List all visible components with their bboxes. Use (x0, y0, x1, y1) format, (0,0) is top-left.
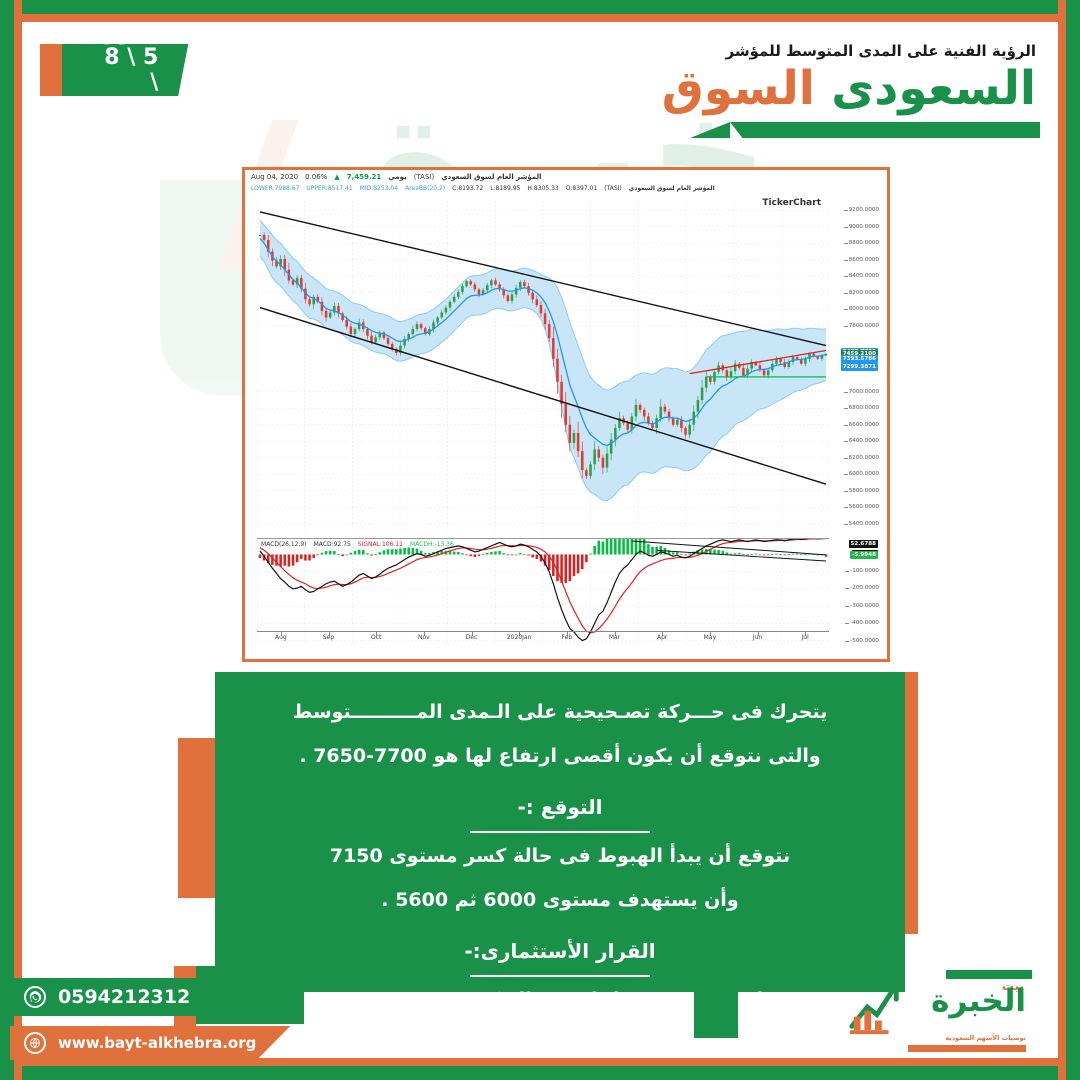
analysis-line-2: والتى نتوقع أن يكون أقصى ارتفاع لها هو 7… (245, 742, 875, 771)
forecast-heading-underline (470, 831, 650, 833)
price-axis-label: 5600.0000 (849, 504, 879, 510)
headline-title-part1: السوق (662, 61, 815, 116)
price-chart-svg (257, 202, 829, 532)
decision-heading: القرار الأستثمارى:- (464, 939, 655, 968)
logo-top-bar (946, 970, 1032, 979)
contact-website-url: www.bayt-alkhebra.org (58, 1034, 256, 1052)
border-top-green (0, 0, 1080, 14)
macd-chart-svg (257, 539, 829, 644)
bollinger-upper: UPPER:8517.41 (306, 185, 352, 192)
time-axis-label: Jul (802, 634, 809, 641)
macd-axis-label: -100.0000 (850, 568, 879, 574)
chart-card: المؤشر العام لسوق السعودي (TASI) يومي 7,… (242, 167, 890, 662)
contact-phone-number: 0594212312 (58, 986, 190, 1008)
price-axis-label: 6200.0000 (849, 455, 879, 461)
time-axis-label: Nov (418, 634, 430, 641)
macd-axis-label: -500.0000 (850, 638, 879, 644)
forecast-heading-wrap: التوقع :- (245, 787, 875, 833)
border-left-green (0, 0, 14, 1080)
time-axis-label: Sep (323, 634, 334, 641)
forecast-heading: التوقع :- (517, 795, 602, 824)
price-axis-label: 8600.0000 (849, 257, 879, 263)
time-axis-label: Oct (371, 634, 381, 641)
time-axis-label: Jun (753, 634, 762, 641)
price-axis-label: 8200.0000 (849, 290, 879, 296)
price-axis-label: 8400.0000 (849, 273, 879, 279)
headline-subtitle: الرؤية الفنية على المدى المتوسط للمؤشر (662, 42, 1036, 60)
macd-histogram: MACDH:-13.36 (410, 541, 454, 548)
price-axis-label: 6800.0000 (849, 405, 879, 411)
ohlc-high: H:8305.33 (527, 185, 558, 192)
price-axis-label: 8000.0000 (849, 306, 879, 312)
analysis-line-1: يتحرك فى حـــركة تصـحيحية على الـمدى الم… (245, 698, 875, 727)
forecast-line-1: نتوقع أن يبدأ الهبوط فى حالة كسر مستوى 7… (245, 842, 875, 871)
logo-bottom-bar (908, 1045, 1026, 1052)
growth-arrow-icon (846, 978, 904, 1036)
macd-axis-label: -400.0000 (850, 620, 879, 626)
analysis-accent-left (178, 738, 220, 898)
headline-title-part2: السعودى (831, 61, 1036, 116)
date-badge: بتاريخ 5 \ 8 \ 2020 (62, 44, 188, 96)
ohlc-close: C:8193.72 (452, 185, 483, 192)
time-axis-label: Apr (657, 634, 667, 641)
time-axis: AugSepOctNovDec2020JanFebMarAprMayJunJul (257, 631, 829, 645)
chart-last-price: 7,459.21 (347, 173, 382, 181)
logo-name-text: الخبرة (931, 986, 1026, 1017)
chart-symbol-2: (TASI) (604, 185, 622, 192)
price-axis-label: 9000.0000 (849, 224, 879, 230)
price-axis-label: 9200.0000 (849, 207, 879, 213)
price-axis-label: 5400.0000 (849, 521, 879, 527)
chart-header-secondary: المؤشر العام لسوق السعودي (TASI) O:8397.… (245, 181, 887, 192)
chart-instrument-name: المؤشر العام لسوق السعودي (441, 173, 541, 181)
border-right-orange (1058, 0, 1066, 1080)
bollinger-mid: MID:8253.04 (360, 185, 398, 192)
price-axis-label: 6000.0000 (849, 471, 879, 477)
macd-tag: -5.9948 (850, 551, 878, 559)
infographic-canvas: خبرة بتاريخ 5 \ 8 \ 2020 الرؤية الفنية ع… (0, 0, 1080, 1080)
chart-instrument-name-2: المؤشر العام لسوق السعودي (629, 185, 715, 192)
forecast-line-2: وأن يستهدف مستوى 6000 ثم 5600 . (245, 886, 875, 915)
price-axis-label: 5800.0000 (849, 488, 879, 494)
macd-panel: MACD(26,12,9) MACD:92.75 SIGNAL:106.11 M… (257, 538, 829, 644)
border-left-orange (14, 0, 22, 1080)
analysis-panel: يتحرك فى حـــركة تصـحيحية على الـمدى الم… (215, 672, 905, 992)
logo-green-block (694, 964, 738, 1038)
company-logo: بيت الخبرة توصيات الأسهم السعودية (842, 968, 1032, 1054)
macd-tag: 52.6788 (849, 540, 878, 548)
chart-change-percent: 0.06% (305, 173, 327, 181)
decision-heading-wrap: القرار الأستثمارى:- (245, 931, 875, 977)
headline-rule-tail (690, 122, 730, 138)
globe-icon (24, 1032, 46, 1054)
border-right-green (1066, 0, 1080, 1080)
headline-group: الرؤية الفنية على المدى المتوسط للمؤشر ا… (662, 42, 1036, 113)
decision-heading-underline (470, 975, 650, 977)
macd-value: MACD:92.75 (314, 541, 351, 548)
price-axis-label: 7000.0000 (849, 389, 879, 395)
time-axis-label: May (704, 634, 716, 641)
ohlc-open: O:8397.01 (566, 185, 597, 192)
price-axis-label: 6400.0000 (849, 438, 879, 444)
macd-axis-label: -200.0000 (850, 585, 879, 591)
chart-timeframe: يومي (388, 173, 406, 181)
contact-website[interactable]: www.bayt-alkhebra.org (10, 1026, 290, 1060)
time-axis-label: 2020Jan (507, 634, 532, 641)
chart-header-primary: المؤشر العام لسوق السعودي (TASI) يومي 7,… (245, 170, 887, 181)
price-axis-label: 8800.0000 (849, 240, 879, 246)
logo-tagline: توصيات الأسهم السعودية (945, 1034, 1026, 1042)
bollinger-lower: LOWER:7988.67 (251, 185, 299, 192)
decision-line-1: جنى ارباح الخروج نهائيا فى حالة كسر مستو… (245, 986, 875, 1015)
watermark-bar-shape (160, 180, 255, 395)
price-panel (257, 202, 829, 532)
chart-date: Aug 04, 2020 (251, 173, 298, 181)
headline-title: السعودى السوق (662, 64, 1036, 113)
chart-plot-area: MACD(26,12,9) MACD:92.75 SIGNAL:106.11 M… (245, 202, 887, 659)
macd-label: MACD(26,12,9) (261, 541, 307, 548)
bollinger-label: AreaBB(20,2) (405, 185, 445, 192)
time-axis-label: Aug (275, 634, 287, 641)
chart-symbol: (TASI) (414, 173, 435, 181)
price-axis-label: 7800.0000 (849, 323, 879, 329)
price-tag: 7299.3871 (841, 363, 878, 371)
price-axis-right: 9200.00009000.00008800.00008600.00008400… (829, 202, 879, 659)
time-axis-label: Mar (609, 634, 620, 641)
contact-phone[interactable]: 0594212312 (10, 978, 224, 1016)
border-top-orange (0, 14, 1080, 22)
border-bottom-green (0, 1066, 1080, 1080)
price-up-arrow-icon: ▲ (334, 173, 339, 181)
headline-rule-bar (730, 122, 1040, 138)
macd-signal: SIGNAL:106.11 (358, 541, 403, 548)
macd-axis-label: -300.0000 (850, 603, 879, 609)
price-axis-label: 6600.0000 (849, 422, 879, 428)
ohlc-low: L:8189.95 (490, 185, 520, 192)
whatsapp-icon (24, 986, 46, 1008)
time-axis-label: Feb (562, 634, 573, 641)
macd-header: MACD(26,12,9) MACD:92.75 SIGNAL:106.11 M… (261, 541, 454, 548)
time-axis-label: Dec (466, 634, 478, 641)
